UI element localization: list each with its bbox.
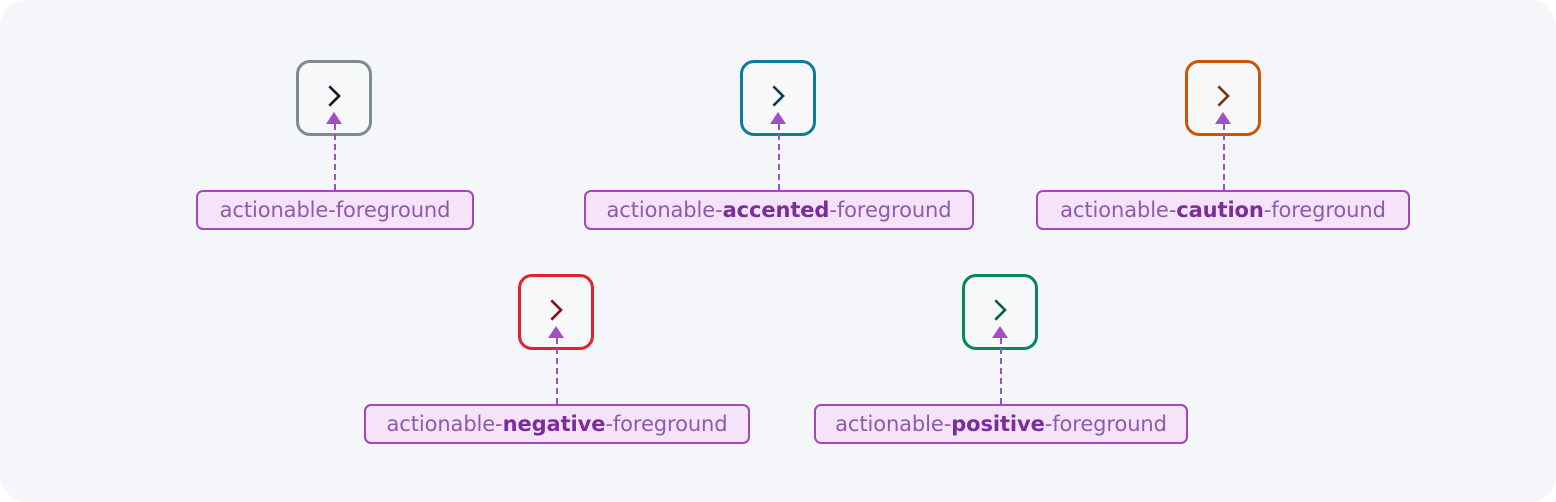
token-callout-accented: actionable-accented-foreground [584,190,974,230]
token-callout-caution: actionable-caution-foreground [1036,190,1410,230]
token-prefix: actionable- [607,200,723,221]
token-variant: accented [723,200,830,221]
annotation-connector-negative [556,338,558,404]
chevron-right-icon [1208,81,1238,111]
token-callout-default: actionable-foreground [196,190,474,230]
annotation-marker-caution [1215,112,1231,124]
chevron-right-icon [763,81,793,111]
token-suffix: -foreground [1045,414,1167,435]
token-variant: negative [503,414,606,435]
annotation-marker-positive [992,326,1008,338]
annotation-connector-default [334,124,336,190]
diagram-canvas: actionable-foregroundactionable-accented… [0,0,1556,502]
annotation-connector-caution [1223,124,1225,190]
token-suffix: -foreground [605,414,727,435]
annotation-marker-accented [770,112,786,124]
token-callout-positive: actionable-positive-foreground [814,404,1188,444]
token-prefix: actionable- [835,414,951,435]
token-prefix: actionable- [1060,200,1176,221]
annotation-marker-default [326,112,342,124]
chevron-right-icon [985,295,1015,325]
token-suffix: -foreground [829,200,951,221]
chevron-right-icon [319,81,349,111]
annotation-connector-accented [778,124,780,190]
token-variant: positive [951,414,1045,435]
token-variant: caution [1176,200,1263,221]
annotation-marker-negative [548,326,564,338]
token-callout-negative: actionable-negative-foreground [364,404,750,444]
token-prefix: actionable- [387,414,503,435]
token-suffix: foreground [336,200,451,221]
token-suffix: -foreground [1264,200,1386,221]
chevron-right-icon [541,295,571,325]
annotation-connector-positive [1000,338,1002,404]
token-prefix: actionable- [220,200,336,221]
